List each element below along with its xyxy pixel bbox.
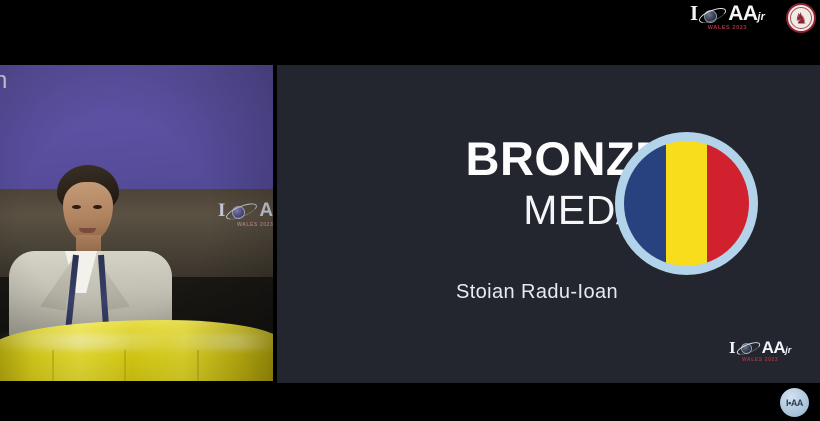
self-view-avatar[interactable]: I•AA	[780, 388, 809, 417]
top-letterbox-bar: IAAjr WALES 2023 ♞	[0, 0, 820, 65]
romania-flag-circle	[615, 132, 758, 275]
award-title-main: BRONZE	[337, 135, 667, 182]
shared-screen-slide[interactable]: BRONZE MEDAL Stoian Radu-Ioan IAAjr WALE…	[277, 65, 820, 383]
logo-suffix-jr: jr	[785, 345, 791, 355]
logo-subtitle: WALES 2023	[729, 358, 791, 363]
person-mouth	[79, 228, 96, 233]
webcam-video-feed[interactable]: n IAAjr WALES 2023	[0, 65, 273, 381]
slide-ioaa-logo: IAAjr WALES 2023	[729, 339, 791, 357]
logo-letters-aa: AA	[728, 2, 757, 25]
bottom-letterbox-bar	[0, 383, 820, 421]
flag-sheen	[0, 334, 273, 350]
person-face	[63, 182, 113, 242]
flag-band-yellow	[666, 141, 708, 266]
yellow-flag	[0, 320, 273, 381]
planet-icon	[736, 340, 762, 357]
logo-letters-aa: AA	[762, 338, 786, 357]
avatar-mark: I•AA	[786, 398, 803, 408]
planet-icon	[698, 6, 728, 26]
person-eye-right	[93, 205, 102, 209]
person-eye-left	[72, 205, 81, 209]
logo-letter-i: I	[729, 338, 736, 357]
welsh-crest-icon: ♞	[786, 3, 816, 33]
flag-band-blue	[624, 141, 666, 266]
logo-subtitle: WALES 2023	[690, 26, 765, 32]
ioaa-header-logo: IAAjr WALES 2023	[690, 3, 765, 26]
recipient-name: Stoian Radu-Ioan	[337, 281, 737, 304]
horse-glyph: ♞	[794, 11, 807, 26]
logo-suffix-jr: jr	[758, 11, 765, 23]
logo-letter-i: I	[690, 1, 698, 25]
flag-bands	[624, 141, 749, 266]
video-call-stage: IAAjr WALES 2023 ♞ n IAAjr WALES 2023	[0, 0, 820, 421]
flag-band-red	[707, 141, 749, 266]
